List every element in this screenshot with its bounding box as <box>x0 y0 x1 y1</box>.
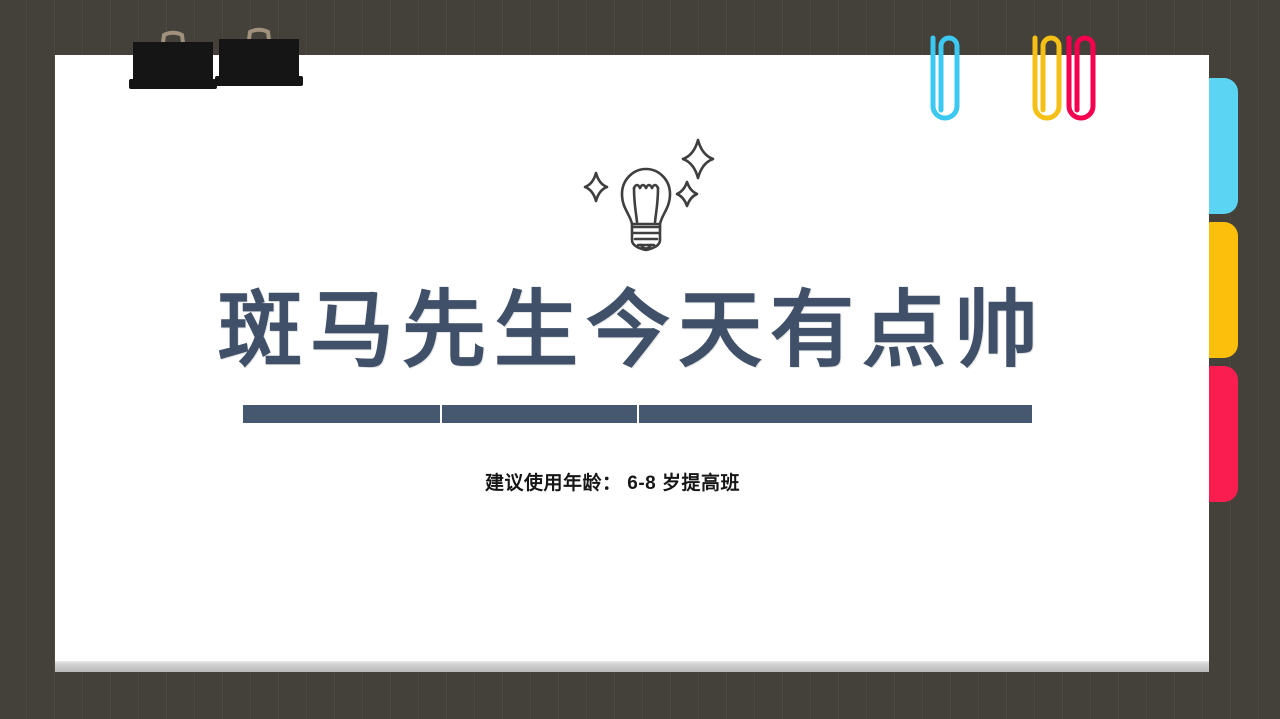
paper-clip-pink-icon <box>1062 32 1102 124</box>
slide-bottom-ledge <box>55 661 1209 672</box>
binder-clip-foot <box>215 76 303 86</box>
binder-clip-foot <box>129 79 217 89</box>
divider-segment-1 <box>243 405 440 423</box>
binder-clip-right <box>219 6 299 90</box>
sparkle-icon <box>677 182 697 206</box>
page-title: 斑马先生今天有点帅 <box>55 286 1209 374</box>
sparkle-icon <box>683 140 713 178</box>
paper-clip-cyan-icon <box>926 32 966 124</box>
binder-clip-left <box>133 9 213 93</box>
divider-segment-2 <box>440 405 637 423</box>
index-tab-cyan[interactable] <box>1209 78 1238 214</box>
index-tab-yellow[interactable] <box>1209 222 1238 358</box>
index-tab-pink[interactable] <box>1209 366 1238 502</box>
subtitle-text: 建议使用年龄： 6-8 岁提高班 <box>485 469 815 499</box>
divider-segment-3 <box>637 405 1032 423</box>
title-divider <box>243 405 1032 423</box>
sparkle-icon <box>585 173 607 201</box>
lightbulb-icon <box>566 128 726 268</box>
slide-canvas: 斑马先生今天有点帅 建议使用年龄： 6-8 岁提高班 <box>0 0 1280 719</box>
